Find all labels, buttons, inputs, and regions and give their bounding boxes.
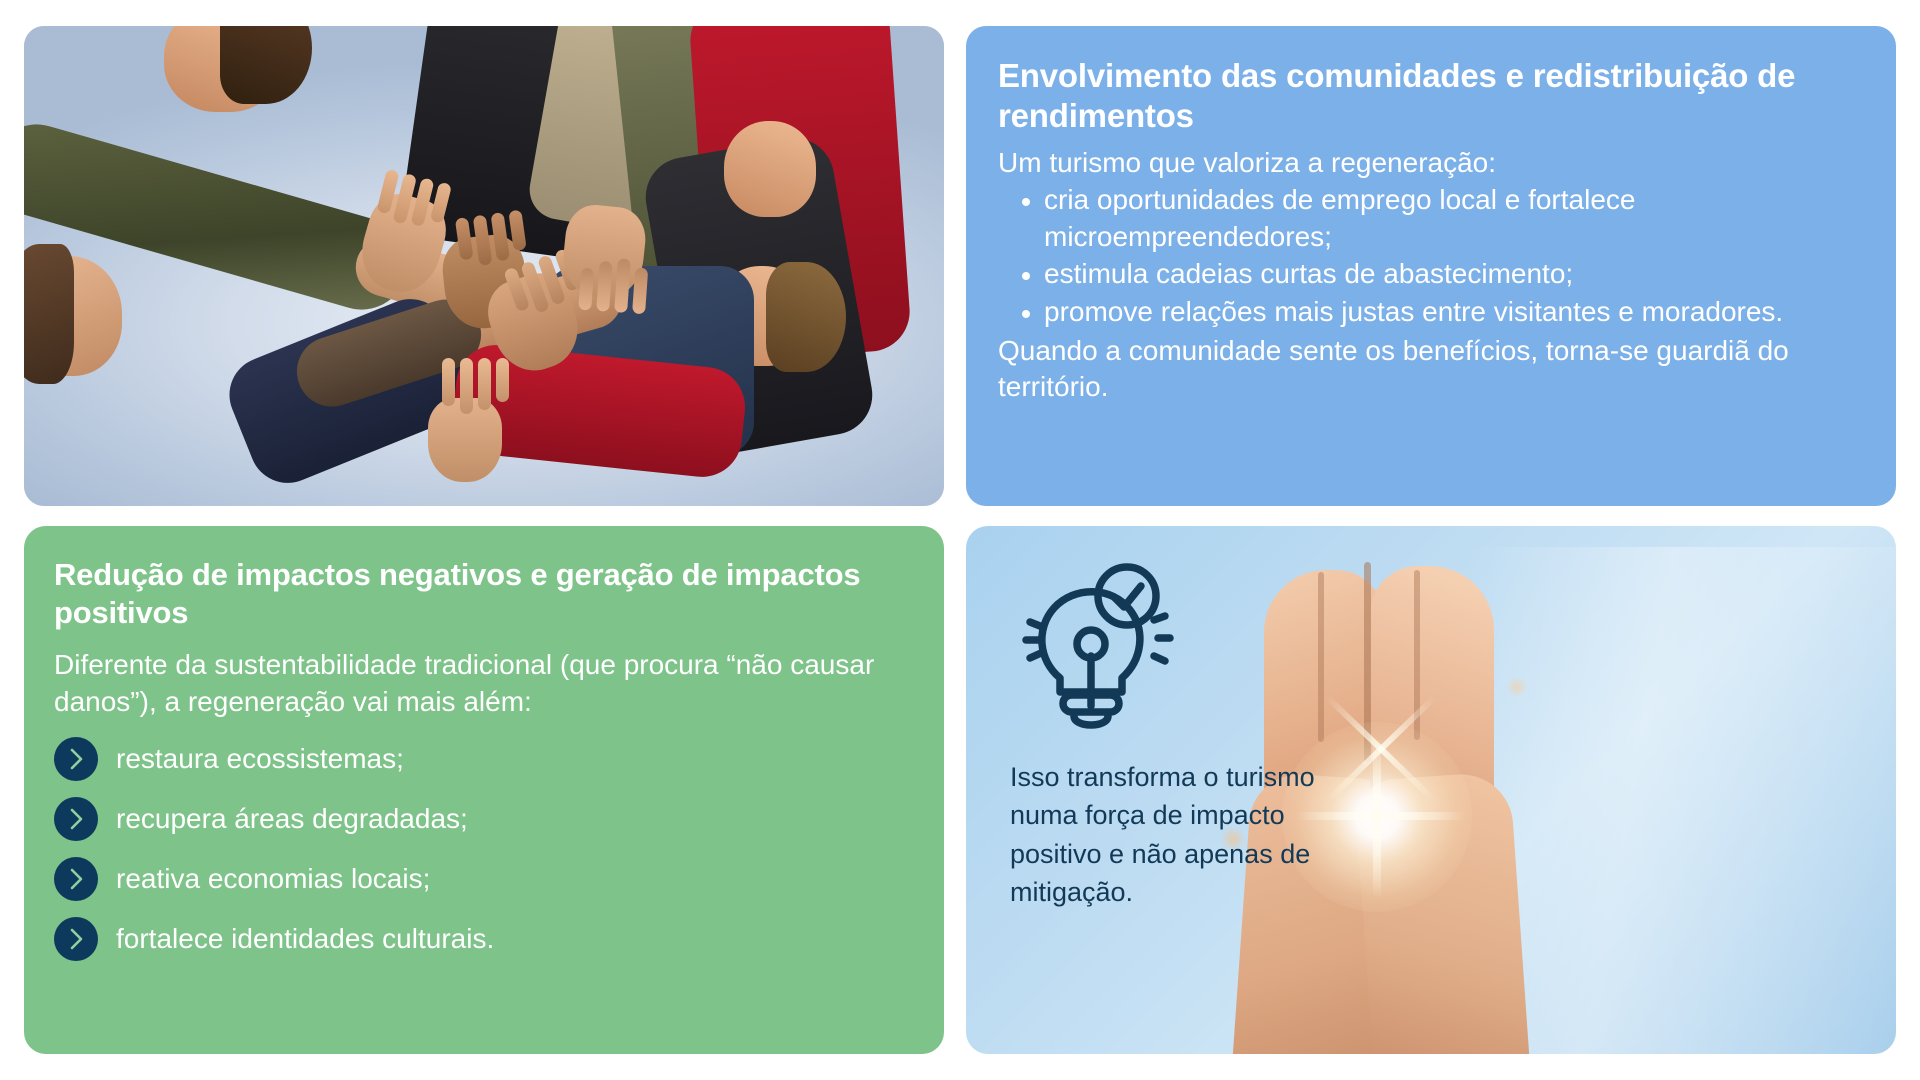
sun-ray-v [1373, 738, 1381, 898]
sky-glow [1468, 547, 1896, 1054]
list-item: restaura ecossistemas; [54, 737, 910, 781]
team-hands-photo [24, 26, 944, 506]
list-item-label: fortalece identidades culturais. [116, 922, 494, 956]
list-item-label: reativa economias locais; [116, 862, 430, 896]
chevron-right-icon [54, 797, 98, 841]
hand-5-fingers [442, 358, 509, 414]
list-item-label: recupera áreas degradadas; [116, 802, 468, 836]
lightbulb-check-icon [1008, 556, 1178, 739]
transform-card: Isso transforma o turismo numa força de … [966, 526, 1896, 1054]
list-item: reativa economias locais; [54, 857, 910, 901]
impacts-card-lead: Diferente da sustentabilidade tradiciona… [54, 647, 910, 721]
transform-card-body: Isso transforma o turismo numa força de … [1010, 758, 1330, 911]
chevron-right-icon [54, 917, 98, 961]
list-item: cria oportunidades de emprego local e fo… [998, 182, 1862, 255]
lens-flare-2 [1506, 676, 1528, 698]
list-item: fortalece identidades culturais. [54, 917, 910, 961]
photo-inner [24, 26, 944, 506]
person-face-right-top [724, 121, 816, 217]
hand-2-fingers [455, 210, 528, 269]
community-card-title: Envolvimento das comunidades e redistrib… [998, 56, 1862, 137]
hand-4-fingers [578, 256, 649, 315]
impacts-card-title: Redução de impactos negativos e geração … [54, 556, 910, 633]
list-item: estimula cadeias curtas de abastecimento… [998, 256, 1862, 292]
community-card: Envolvimento das comunidades e redistrib… [966, 26, 1896, 506]
chevron-right-icon [54, 737, 98, 781]
community-card-tail: Quando a comunidade sente os benefícios,… [998, 333, 1862, 406]
chevron-right-icon [54, 857, 98, 901]
person-hair-right-bottom [766, 262, 846, 372]
slide-root: Envolvimento das comunidades e redistrib… [0, 0, 1920, 1080]
list-item: promove relações mais justas entre visit… [998, 294, 1862, 330]
community-bullet-list: cria oportunidades de emprego local e fo… [998, 182, 1862, 331]
list-item-label: restaura ecossistemas; [116, 742, 404, 776]
list-item: recupera áreas degradadas; [54, 797, 910, 841]
person-hair-left [24, 244, 74, 384]
community-card-lead: Um turismo que valoriza a regeneração: [998, 145, 1862, 181]
impacts-card: Redução de impactos negativos e geração … [24, 526, 944, 1054]
impacts-chevron-list: restaura ecossistemas; recupera áreas de… [54, 737, 910, 961]
finger-gap-1 [1318, 572, 1324, 742]
